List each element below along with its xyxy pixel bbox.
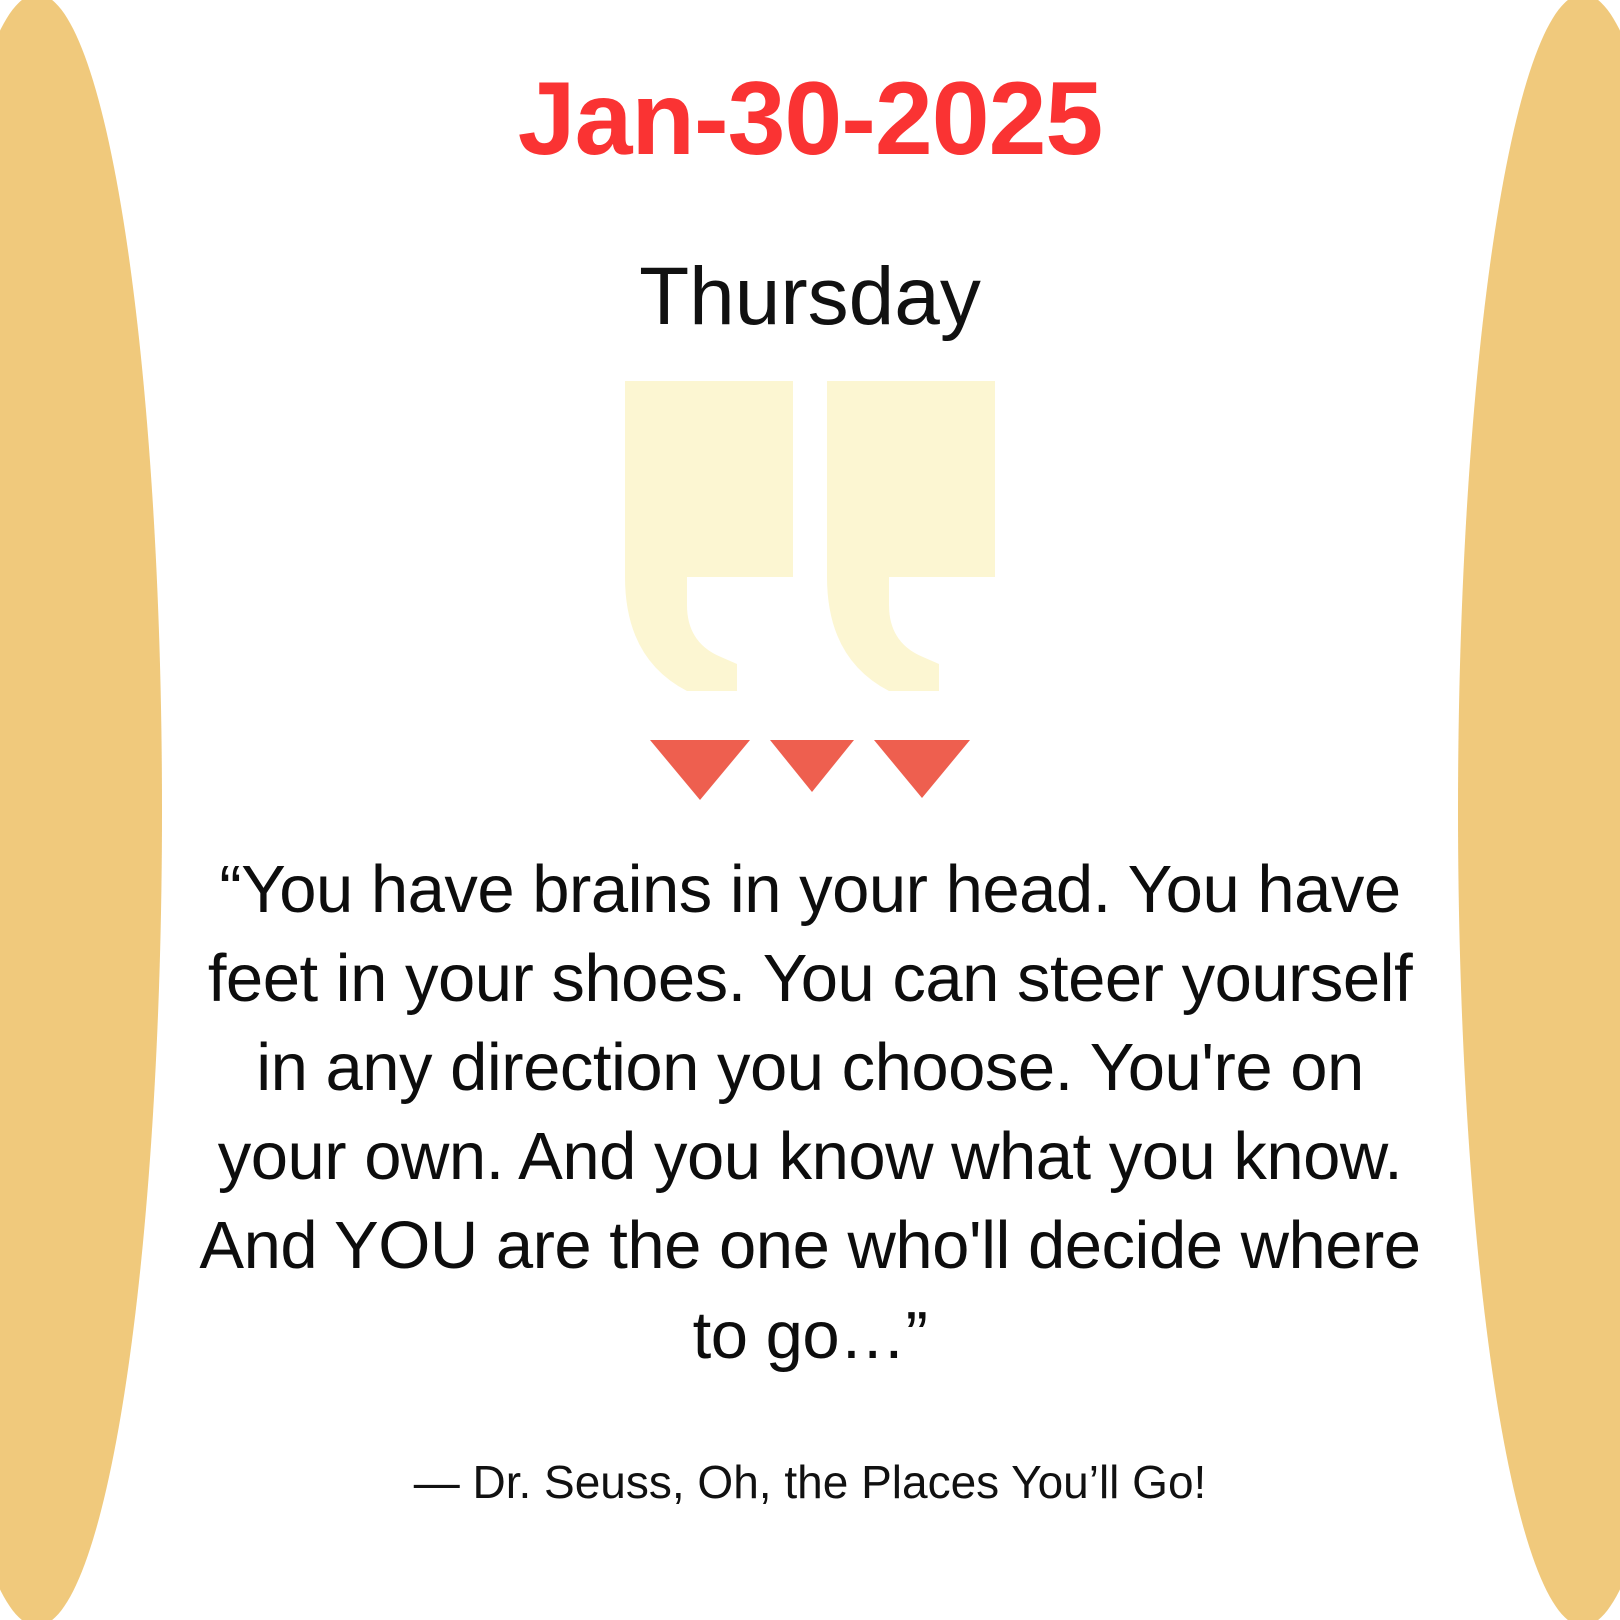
double-quote-icon	[625, 381, 995, 691]
triangle-down-icon-3	[874, 740, 970, 798]
triangle-divider	[650, 740, 970, 800]
triangle-down-icon-2	[770, 740, 854, 792]
quote-card: Jan-30-2025 Thursday “You have brains in…	[0, 0, 1620, 1620]
quote-glyph-right	[827, 381, 995, 691]
quote-body: “You have brains in your head. You have …	[185, 845, 1435, 1380]
gold-ellipse-icon-right	[1458, 0, 1620, 1620]
weekday-label: Thursday	[0, 252, 1620, 342]
gold-ellipse-icon-left	[0, 0, 162, 1620]
page-title: Jan-30-2025	[0, 62, 1620, 176]
triangle-down-icon-1	[650, 740, 750, 800]
quote-attribution: — Dr. Seuss, Oh, the Places You’ll Go!	[0, 1455, 1620, 1509]
quote-glyph-left	[625, 381, 793, 691]
